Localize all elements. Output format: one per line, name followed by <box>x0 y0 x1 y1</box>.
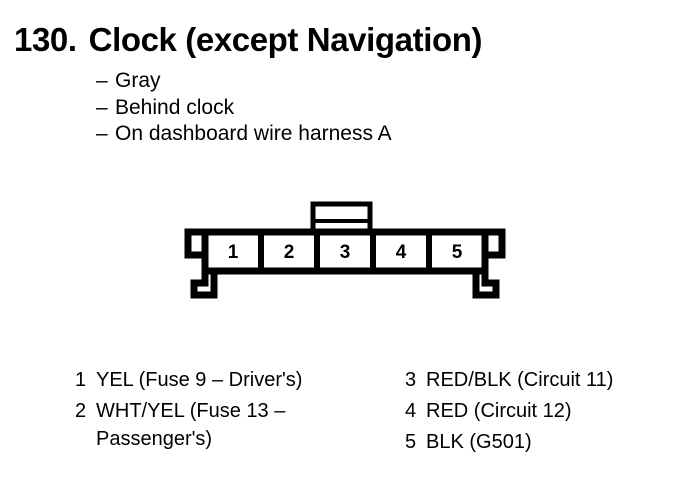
page-title-name: Clock (except Navigation) <box>89 21 482 58</box>
cavity-number: 5 <box>452 242 463 263</box>
legend-wire-description: YEL (Fuse 9 – Driver's) <box>96 366 375 394</box>
legend-terminal-number: 4 <box>405 397 426 425</box>
legend-terminal-number: 2 <box>75 397 96 425</box>
page-title: 130.Clock (except Navigation) <box>14 21 482 59</box>
legend-column-left: 1 YEL (Fuse 9 – Driver's) 2 WHT/YEL (Fus… <box>75 366 375 456</box>
legend-terminal-number: 5 <box>405 428 426 456</box>
cavity-number: 1 <box>228 242 239 263</box>
description-item-label: Behind clock <box>115 95 234 122</box>
legend-row: 2 WHT/YEL (Fuse 13 – Passenger's) <box>75 397 375 453</box>
legend-wire-description: BLK (G501) <box>426 428 680 456</box>
dash-marker: – <box>96 68 115 95</box>
description-item: – On dashboard wire harness A <box>96 121 516 148</box>
legend-terminal-number: 1 <box>75 366 96 394</box>
legend-row: 5 BLK (G501) <box>405 428 680 456</box>
legend-row: 1 YEL (Fuse 9 – Driver's) <box>75 366 375 394</box>
terminal-legend: 1 YEL (Fuse 9 – Driver's) 2 WHT/YEL (Fus… <box>0 366 688 476</box>
dash-marker: – <box>96 95 115 122</box>
legend-row: 4 RED (Circuit 12) <box>405 397 680 425</box>
legend-wire-description: RED (Circuit 12) <box>426 397 680 425</box>
cavity-number: 3 <box>340 242 351 263</box>
description-item-label: On dashboard wire harness A <box>115 121 392 148</box>
legend-terminal-number: 3 <box>405 366 426 394</box>
description-list: – Gray – Behind clock – On dashboard wir… <box>96 68 516 148</box>
page-title-number: 130. <box>14 21 77 58</box>
legend-wire-description: RED/BLK (Circuit 11) <box>426 366 680 394</box>
legend-column-right: 3 RED/BLK (Circuit 11) 4 RED (Circuit 12… <box>405 366 680 459</box>
connector-illustration: 1 2 3 4 5 <box>180 195 510 305</box>
description-item-label: Gray <box>115 68 161 95</box>
legend-row: 3 RED/BLK (Circuit 11) <box>405 366 680 394</box>
cavity-number: 2 <box>284 242 295 263</box>
cavity-number: 4 <box>396 242 407 263</box>
dash-marker: – <box>96 121 115 148</box>
description-item: – Behind clock <box>96 95 516 122</box>
description-item: – Gray <box>96 68 516 95</box>
legend-wire-description: WHT/YEL (Fuse 13 – Passenger's) <box>96 397 375 453</box>
connector-diagram: 1 2 3 4 5 <box>180 195 510 305</box>
